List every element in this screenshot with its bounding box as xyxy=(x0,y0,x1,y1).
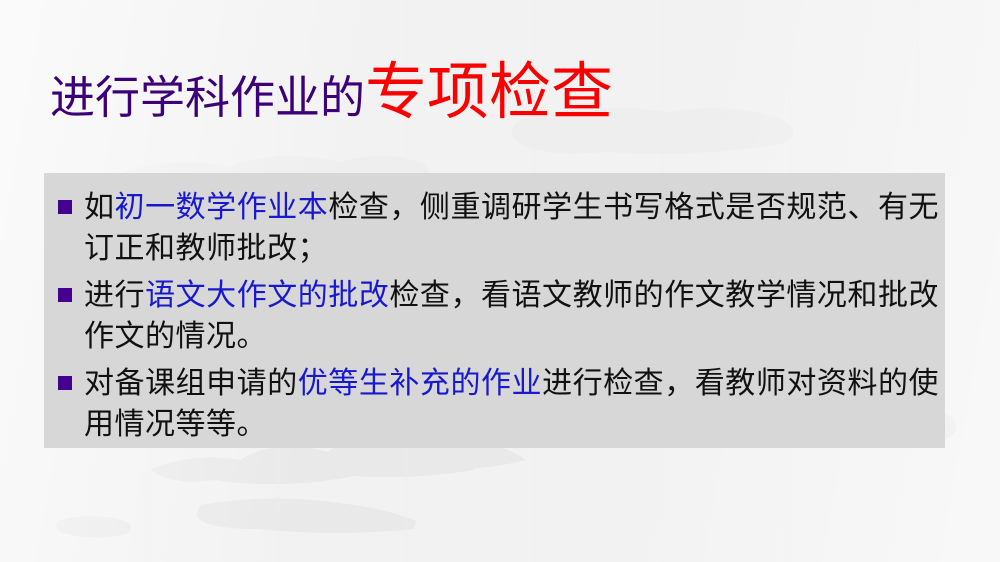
page-title-emphasis: 专项检查 xyxy=(365,59,613,127)
bullet-2-segment-1: 进行 xyxy=(84,279,145,312)
page-title-prefix: 进行学科作业的 xyxy=(50,73,365,123)
list-item: 对备课组申请的优等生补充的作业进行检查，看教师对资料的使用情况等等。 xyxy=(50,363,939,445)
square-bullet-icon xyxy=(58,288,72,302)
bullet-1-segment-2: 初一数学作业本 xyxy=(115,191,329,224)
slide-canvas: 进行学科作业的专项检查 如初一数学作业本检查，侧重调研学生书写格式是否规范、有无… xyxy=(0,0,1000,562)
page-title: 进行学科作业的专项检查 xyxy=(50,62,613,124)
list-item-text: 进行语文大作文的批改检查，看语文教师的作文教学情况和批改作文的情况。 xyxy=(84,275,939,357)
list-item-text: 如初一数学作业本检查，侧重调研学生书写格式是否规范、有无订正和教师批改； xyxy=(84,187,939,269)
list-item: 如初一数学作业本检查，侧重调研学生书写格式是否规范、有无订正和教师批改； xyxy=(50,187,939,269)
square-bullet-icon xyxy=(58,376,72,390)
list-item: 进行语文大作文的批改检查，看语文教师的作文教学情况和批改作文的情况。 xyxy=(50,275,939,357)
bullet-3-segment-1: 对备课组申请的 xyxy=(84,367,298,400)
content-panel: 如初一数学作业本检查，侧重调研学生书写格式是否规范、有无订正和教师批改； 进行语… xyxy=(44,173,945,448)
bullet-3-segment-2: 优等生补充的作业 xyxy=(298,367,542,400)
square-bullet-icon xyxy=(58,200,72,214)
list-item-text: 对备课组申请的优等生补充的作业进行检查，看教师对资料的使用情况等等。 xyxy=(84,363,939,445)
bullet-2-segment-2: 语文大作文的批改 xyxy=(145,279,389,312)
bullet-1-segment-1: 如 xyxy=(84,191,115,224)
